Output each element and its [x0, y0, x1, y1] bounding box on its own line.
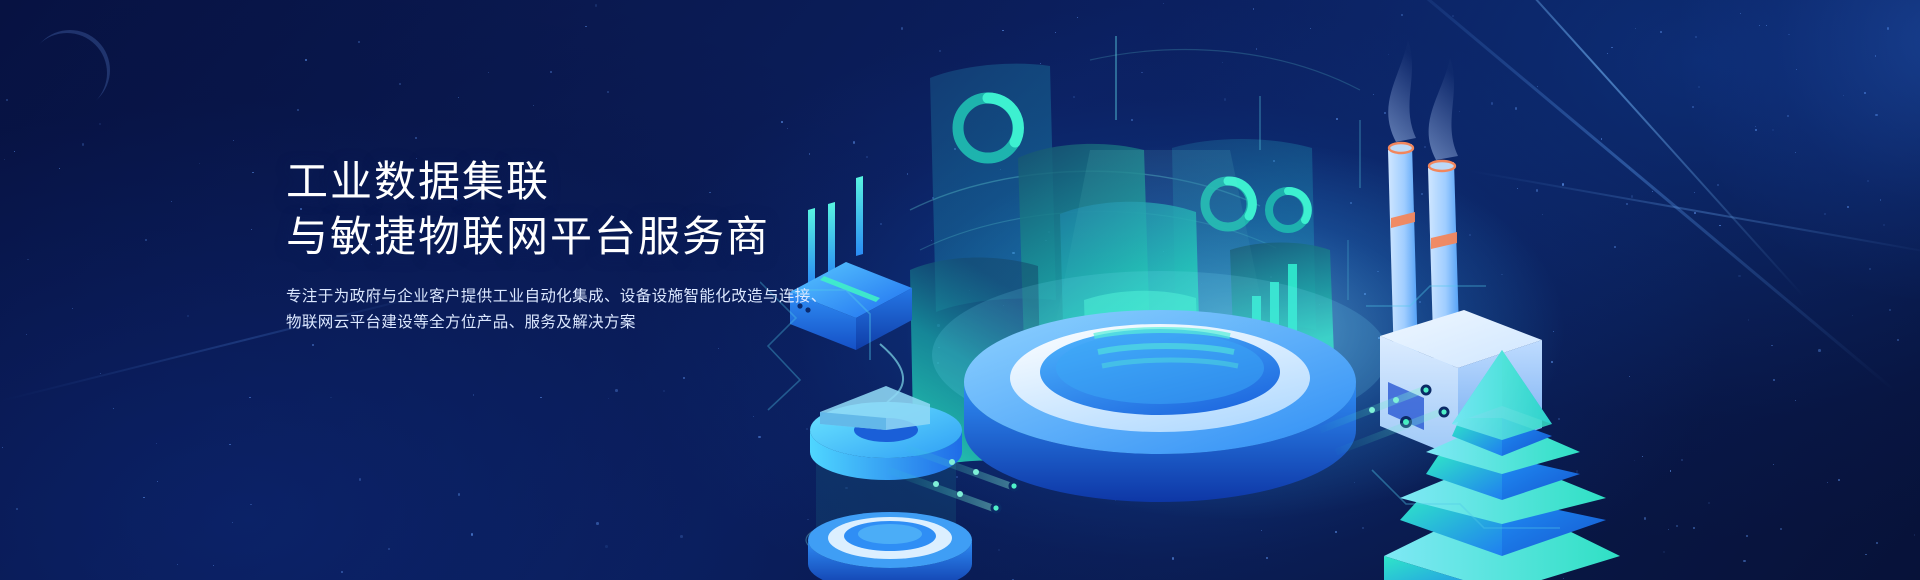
star [2, 447, 3, 448]
antenna [828, 202, 835, 278]
star [113, 408, 114, 409]
star [250, 504, 252, 506]
star [605, 545, 608, 548]
star [312, 344, 314, 346]
star [249, 397, 250, 398]
subtitle-line-1: 专注于为政府与企业客户提供工业自动化集成、设备设施智能化改造与连接、 [286, 284, 827, 310]
star [358, 41, 360, 43]
star [187, 315, 189, 317]
star [540, 397, 542, 399]
chimney-rim [1389, 143, 1413, 153]
star [26, 334, 27, 335]
star [14, 151, 15, 152]
star [297, 109, 299, 111]
star [233, 140, 234, 141]
star [388, 548, 390, 550]
star [608, 398, 609, 399]
star [607, 91, 610, 94]
star [177, 564, 178, 565]
star [199, 163, 200, 164]
smoke-plume [1429, 58, 1458, 160]
hero-illustration [760, 0, 1920, 580]
star [663, 390, 665, 392]
star [585, 26, 586, 27]
star [100, 373, 101, 374]
star [680, 535, 683, 538]
star [615, 389, 618, 392]
star [251, 229, 252, 230]
headline-line-1: 工业数据集联 [286, 154, 827, 209]
star [213, 565, 214, 566]
smoke-plume [1388, 40, 1416, 142]
star [550, 71, 552, 73]
headline-line-2: 与敏捷物联网平台服务商 [286, 209, 827, 264]
star [82, 143, 84, 145]
star [471, 533, 474, 536]
star [488, 72, 489, 73]
hero-banner: 工业数据集联 与敏捷物联网平台服务商 专注于为政府与企业客户提供工业自动化集成、… [0, 0, 1920, 580]
star [753, 416, 755, 418]
star [683, 377, 685, 379]
star [4, 159, 5, 160]
star [143, 497, 145, 499]
star [232, 522, 233, 523]
star [330, 397, 331, 398]
star [399, 83, 401, 85]
star [473, 394, 474, 395]
star [171, 201, 172, 202]
hero-subtitle: 专注于为政府与企业客户提供工业自动化集成、设备设施智能化改造与连接、 物联网云平… [286, 284, 827, 336]
star [252, 172, 254, 174]
star [415, 137, 417, 139]
star [341, 571, 343, 573]
hero-copy: 工业数据集联 与敏捷物联网平台服务商 专注于为政府与企业客户提供工业自动化集成、… [286, 154, 827, 336]
subtitle-line-2: 物联网云平台建设等全方位产品、服务及解决方案 [286, 310, 827, 336]
star [156, 443, 157, 444]
star [595, 4, 598, 7]
star [229, 444, 231, 446]
star [458, 97, 459, 98]
star [6, 99, 8, 101]
star [458, 493, 460, 495]
star [99, 123, 101, 125]
page-title: 工业数据集联 与敏捷物联网平台服务商 [286, 154, 827, 264]
star [533, 105, 534, 106]
crescent-moon-arc [30, 30, 110, 110]
star [359, 478, 362, 481]
star [16, 508, 18, 510]
cylinder-gauge [806, 386, 972, 580]
star [718, 348, 719, 349]
star [145, 239, 147, 241]
star [59, 168, 60, 169]
star [157, 481, 158, 482]
antenna [856, 176, 863, 256]
star [27, 259, 28, 260]
chimney-rim [1429, 161, 1455, 171]
star [596, 522, 599, 525]
star [72, 308, 73, 309]
star [305, 59, 307, 61]
